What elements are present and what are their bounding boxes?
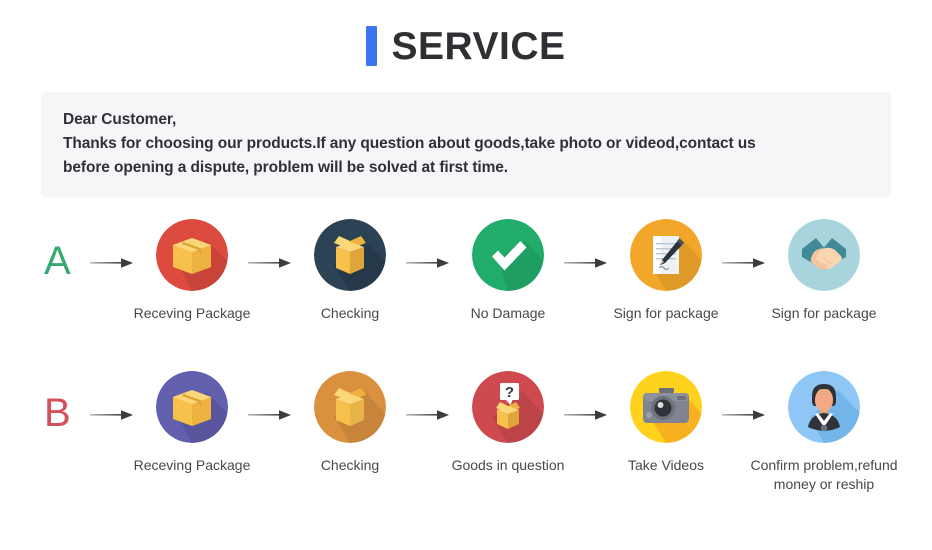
step-goods-in-question[interactable]: ? Goods in question: [454, 371, 562, 475]
check-mark-icon: [472, 219, 544, 291]
right-arrow-icon: [88, 219, 138, 271]
flow-row-b: B Receving Package: [0, 371, 932, 494]
closed-box-icon: [156, 371, 228, 443]
customer-notice: Dear Customer, Thanks for choosing our p…: [41, 92, 891, 197]
flow-row-a: A Receving Package: [0, 219, 932, 323]
notice-line-2: Thanks for choosing our products.If any …: [63, 132, 869, 156]
svg-text:?: ?: [505, 384, 514, 401]
step-label: Receving Package: [117, 304, 267, 323]
step-checking[interactable]: Checking: [296, 219, 404, 323]
right-arrow-icon: [562, 219, 612, 271]
page-title-text: SERVICE: [391, 27, 565, 66]
step-sign-for-package[interactable]: Sign for package: [612, 219, 720, 323]
step-label: Receving Package: [117, 456, 267, 475]
question-box-icon: ?: [472, 371, 544, 443]
page-title: SERVICE: [0, 0, 932, 78]
step-no-damage[interactable]: No Damage: [454, 219, 562, 323]
right-arrow-icon: [88, 371, 138, 423]
step-checking[interactable]: Checking: [296, 371, 404, 475]
step-label: Take Videos: [591, 456, 741, 475]
right-arrow-icon: [562, 371, 612, 423]
open-box-icon: [314, 371, 386, 443]
person-avatar-icon: [788, 371, 860, 443]
step-receving-package[interactable]: Receving Package: [138, 371, 246, 475]
step-sign-for-package-2[interactable]: Sign for package: [770, 219, 878, 323]
step-label: Checking: [275, 304, 425, 323]
camera-icon: [630, 371, 702, 443]
step-confirm-problem[interactable]: Confirm problem,refund money or reship: [770, 371, 878, 494]
notice-line-1: Dear Customer,: [63, 108, 869, 132]
step-label: Checking: [275, 456, 425, 475]
right-arrow-icon: [404, 219, 454, 271]
right-arrow-icon: [246, 219, 296, 271]
right-arrow-icon: [720, 371, 770, 423]
step-label: Goods in question: [433, 456, 583, 475]
title-accent-bar: [366, 26, 377, 66]
step-take-videos[interactable]: Take Videos: [612, 371, 720, 475]
handshake-icon: [788, 219, 860, 291]
open-box-icon: [314, 219, 386, 291]
row-letter-b: B: [44, 371, 88, 433]
step-label: Sign for package: [749, 304, 899, 323]
row-letter-a: A: [44, 219, 88, 281]
step-label: Confirm problem,refund money or reship: [749, 456, 899, 494]
right-arrow-icon: [246, 371, 296, 423]
step-label: Sign for package: [591, 304, 741, 323]
document-pen-icon: [630, 219, 702, 291]
notice-line-3: before opening a dispute, problem will b…: [63, 156, 869, 180]
closed-box-icon: [156, 219, 228, 291]
right-arrow-icon: [720, 219, 770, 271]
right-arrow-icon: [404, 371, 454, 423]
step-label: No Damage: [433, 304, 583, 323]
step-receving-package[interactable]: Receving Package: [138, 219, 246, 323]
